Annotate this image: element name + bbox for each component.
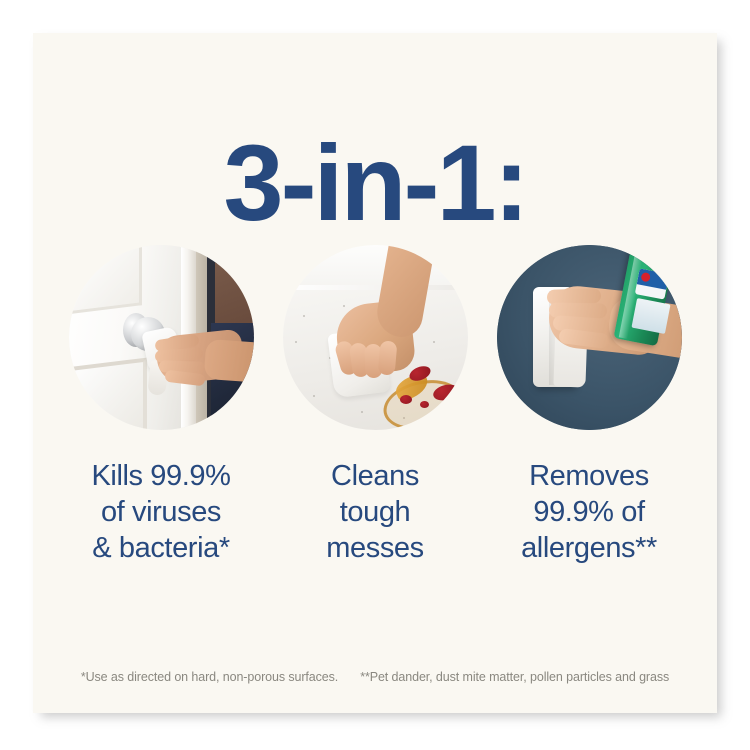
door-panel-top-shape xyxy=(69,246,142,315)
jam-spill-shape xyxy=(400,395,412,404)
hand-wiping-countertop-spill-photo xyxy=(283,245,468,430)
counter-speck xyxy=(433,341,435,343)
counter-speck xyxy=(343,305,345,307)
jam-spill-shape xyxy=(420,401,429,408)
wipes-package-label-shape xyxy=(634,268,668,299)
footnotes: *Use as directed on hard, non-porous sur… xyxy=(33,669,717,685)
door-panel-bottom-shape xyxy=(69,358,147,430)
finger-shape xyxy=(377,340,397,375)
wipes-package-bottom-shape xyxy=(631,298,670,334)
counter-speck xyxy=(295,341,297,343)
person-torso-shape xyxy=(215,245,254,335)
feature-removes-allergens: Removes 99.9% of allergens** xyxy=(497,245,682,566)
feature-row: Kills 99.9% of viruses & bacteria* xyxy=(33,245,717,566)
feature-kills-germs: Kills 99.9% of viruses & bacteria* xyxy=(69,245,254,566)
feature-cleans-messes: Cleans tough messes xyxy=(283,245,468,566)
page-title: 3-in-1: xyxy=(33,129,717,237)
counter-speck xyxy=(303,315,305,317)
hand-wiping-doorknob-photo xyxy=(69,245,254,430)
feature-caption: Cleans tough messes xyxy=(326,458,424,566)
product-infographic-image: 3-in-1: xyxy=(0,0,750,750)
counter-speck xyxy=(361,411,363,413)
countertop-edge-shape xyxy=(283,285,468,290)
feature-caption: Removes 99.9% of allergens** xyxy=(521,458,657,566)
content-panel: 3-in-1: xyxy=(33,33,717,713)
hand-wiping-wall-with-wipes-pack-photo xyxy=(497,245,682,430)
footnote-single-asterisk: *Use as directed on hard, non-porous sur… xyxy=(81,669,338,685)
footnote-double-asterisk: **Pet dander, dust mite matter, pollen p… xyxy=(360,669,669,685)
counter-speck xyxy=(313,395,315,397)
feature-caption: Kills 99.9% of viruses & bacteria* xyxy=(91,458,230,566)
forearm-shape xyxy=(203,339,253,383)
